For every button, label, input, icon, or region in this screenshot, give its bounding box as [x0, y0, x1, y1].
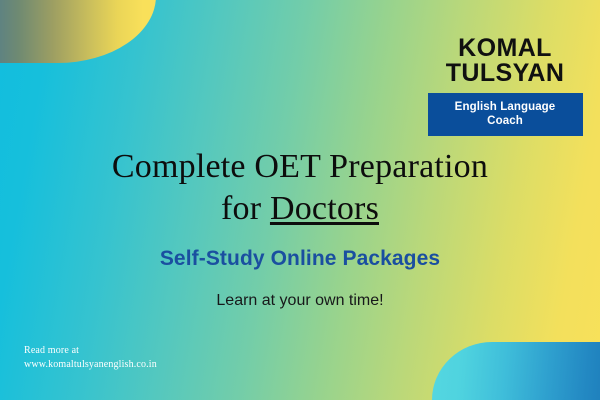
brand-name: KOMAL TULSYAN — [425, 36, 585, 86]
page-title: Complete OET Preparation for Doctors — [0, 146, 600, 230]
headline-line-2-prefix: for — [221, 190, 270, 227]
website-url[interactable]: www.komaltulsyanenglish.co.in — [24, 358, 157, 372]
brand-logo: KOMAL TULSYAN English Language Coach — [425, 36, 585, 136]
headline-line-1: Complete OET Preparation — [112, 148, 488, 185]
blue-corner-blob-icon — [432, 342, 600, 400]
brand-tagline: English Language Coach — [430, 100, 581, 128]
promo-banner: KOMAL TULSYAN English Language Coach Com… — [0, 0, 600, 400]
footer: Read more at www.komaltulsyanenglish.co.… — [24, 344, 157, 372]
read-more-label: Read more at — [24, 344, 157, 358]
headline-line-2-underlined: Doctors — [270, 190, 379, 227]
promo-tagline: Learn at your own time! — [0, 290, 600, 312]
yellow-corner-blob-icon — [0, 0, 156, 63]
brand-tagline-box: English Language Coach — [428, 93, 583, 136]
subheadline: Self-Study Online Packages — [0, 246, 600, 272]
